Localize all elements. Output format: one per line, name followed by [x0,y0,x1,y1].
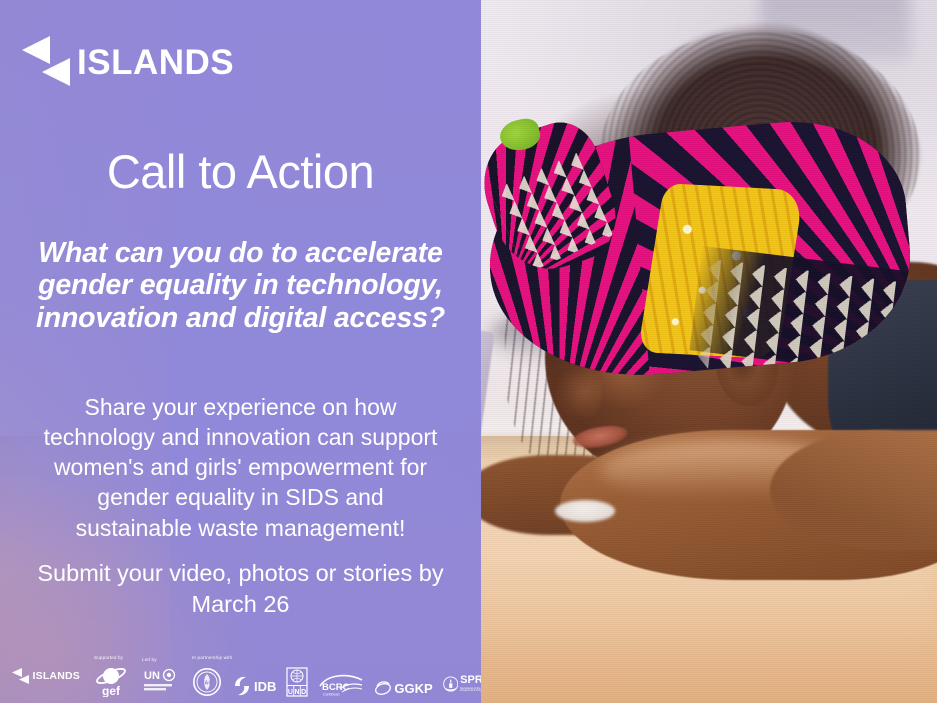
footer-group-in-partnership-with: In partnership with FAO [192,635,481,703]
ggkp-logo: GGKP [374,679,432,697]
islands-double-triangle-icon [14,34,74,90]
svg-text:Caribbean: Caribbean [323,693,340,697]
un-environment-programme-logo: UN [142,667,178,697]
idb-logo: IDB [232,675,276,697]
footer-islands-wordmark: ISLANDS [33,671,81,682]
svg-text:BCRC: BCRC [322,682,350,693]
fao-logo: FAO [192,667,222,697]
svg-text:gef: gef [102,684,121,697]
sprep-tagline: Secretariat of the Pacific Regional Envi… [460,688,481,693]
footer-group-led-by: Led by UN [142,635,178,703]
call-to-action-poster: ISLANDS Call to Action What can you do t… [0,0,937,703]
footer-caption: In partnership with [192,656,232,661]
body-copy: Share your experience on how technology … [40,392,441,543]
islands-wordmark: ISLANDS [77,45,234,80]
idb-wordmark: IDB [254,680,276,693]
white-object-on-floor [555,500,615,522]
question-text: What can you do to accelerate gender equ… [28,237,453,334]
islands-double-triangle-icon [10,667,31,685]
partner-logo-footer: ISLANDS Supported by gef [0,641,481,703]
purple-overlay-panel: ISLANDS Call to Action What can you do t… [0,0,481,703]
footer-caption: Supported by [94,656,123,661]
sprep-logo: SPREP Secretariat of the Pacific Regiona… [443,671,481,697]
gef-logo: gef [94,665,128,697]
svg-text:UN: UN [144,670,160,682]
page-title: Call to Action [0,144,481,199]
svg-text:D: D [301,689,306,696]
bcrc-logo: BCRC Caribbean [318,671,364,697]
submit-instruction: Submit your video, photos or stories by … [30,558,451,620]
sprep-wordmark: SPREP [460,675,481,686]
footer-islands-logo: ISLANDS [10,667,80,703]
svg-text:FAO: FAO [201,681,213,687]
footer-caption: Led by [142,658,157,663]
islands-logo: ISLANDS [14,34,234,90]
svg-text:U: U [288,689,293,696]
footer-group-supported-by: Supported by gef [94,635,128,703]
svg-text:N: N [295,689,300,696]
ggkp-wordmark: GGKP [394,682,432,695]
undp-logo: U N D [286,667,308,697]
